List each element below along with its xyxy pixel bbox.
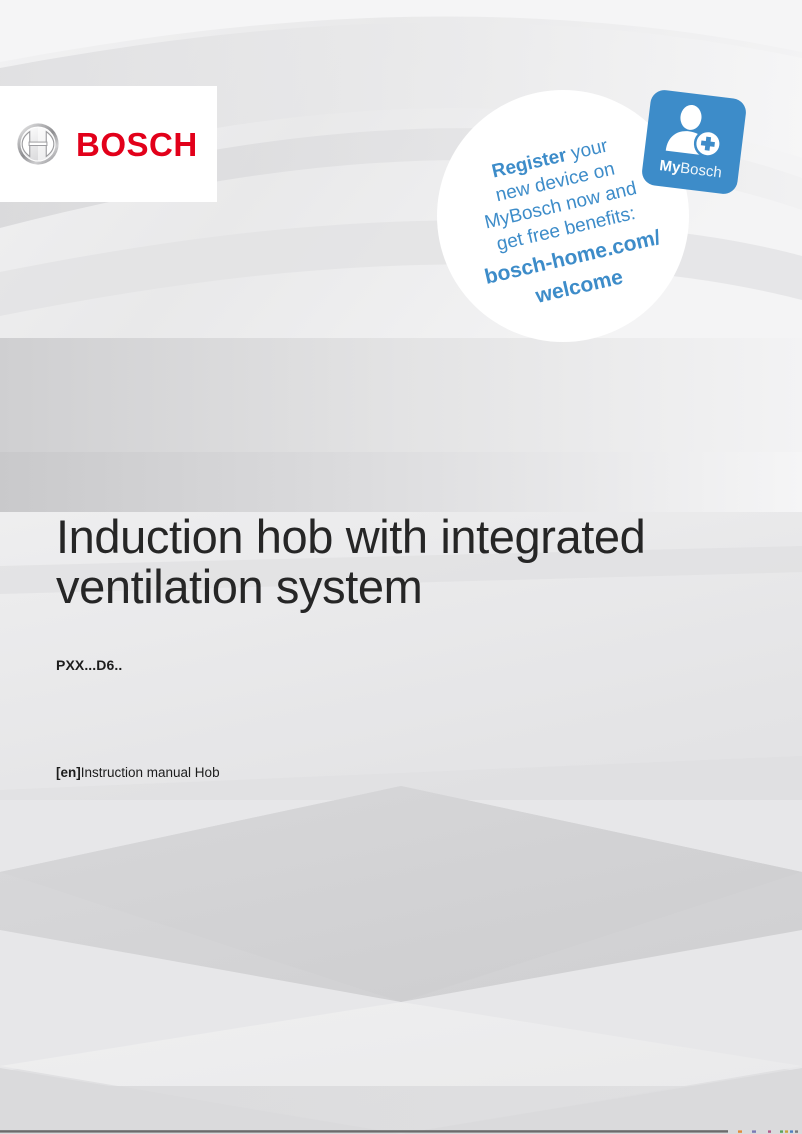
bosch-logo-block: BOSCH — [0, 86, 217, 202]
print-registration-strip — [0, 1129, 802, 1134]
page-title: Induction hob with integrated ventilatio… — [56, 512, 746, 612]
language-description: Instruction manual Hob — [81, 765, 220, 780]
mybosch-label-my: My — [659, 157, 682, 176]
user-add-icon — [661, 100, 729, 163]
bosch-wordmark: BOSCH — [76, 128, 198, 161]
title-area: Induction hob with integrated ventilatio… — [56, 512, 746, 612]
language-line: [en]Instruction manual Hob — [56, 765, 220, 780]
mybosch-label-bosch: Bosch — [679, 160, 722, 182]
bosch-armature-logo-icon — [16, 122, 60, 166]
manual-cover-page: BOSCH Register your new device on MyBosc… — [0, 0, 802, 1134]
model-number: PXX...D6.. — [56, 657, 122, 673]
language-tag: [en] — [56, 765, 81, 780]
mybosch-app-tile[interactable]: MyBosch — [641, 89, 748, 196]
